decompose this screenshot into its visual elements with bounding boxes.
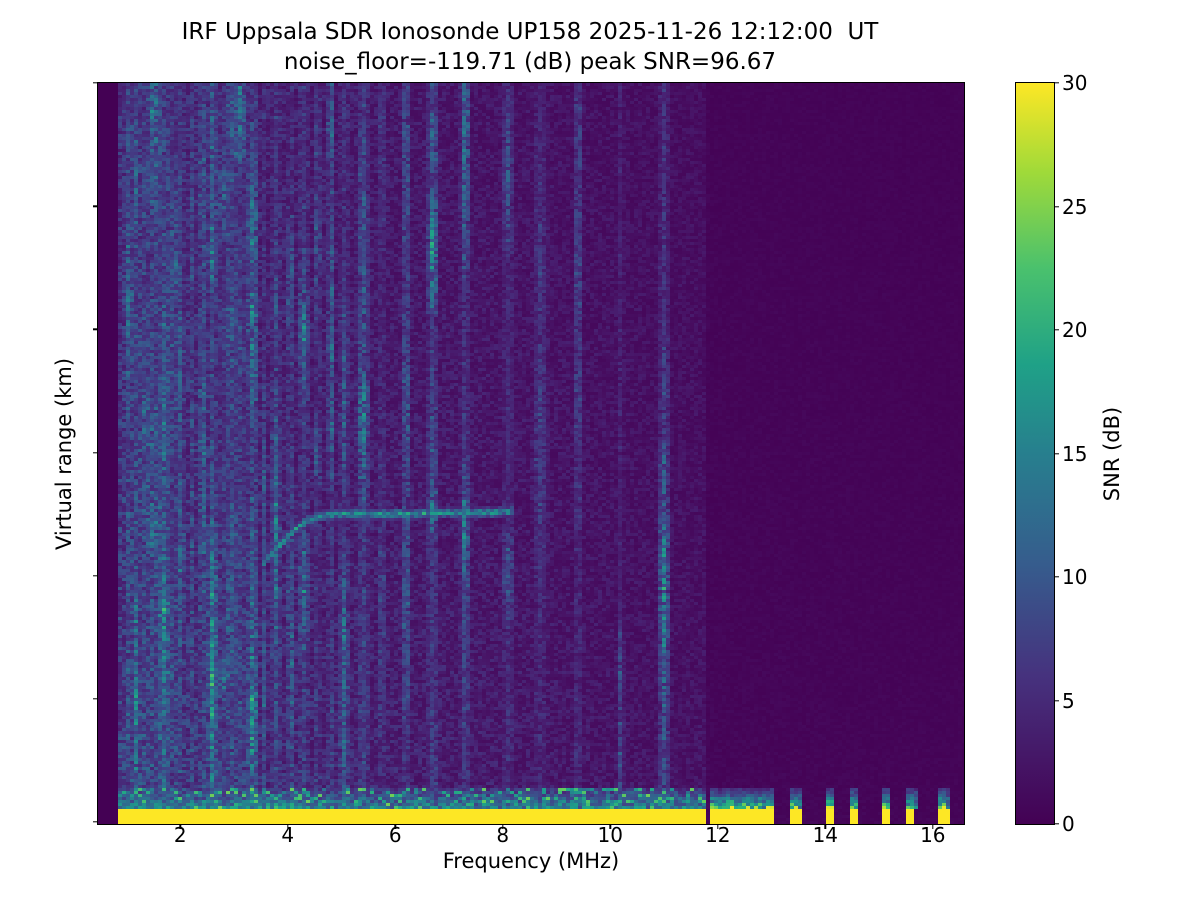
colorbar-tick-label-30: 30 <box>1062 71 1087 95</box>
colorbar-tick-mark <box>1054 82 1059 83</box>
x-tick-label-4: 4 <box>281 823 294 847</box>
x-tick-label-14: 14 <box>813 823 838 847</box>
title-line-2: noise_floor=-119.71 (dB) peak SNR=96.67 <box>0 48 1060 78</box>
y-tick-mark <box>93 329 98 330</box>
ionogram-heatmap <box>98 83 964 824</box>
x-tick-label-6: 6 <box>389 823 402 847</box>
x-tick-label-16: 16 <box>920 823 945 847</box>
x-tick-label-2: 2 <box>174 823 187 847</box>
colorbar-tick-mark <box>1054 700 1059 701</box>
figure-title: IRF Uppsala SDR Ionosonde UP158 2025-11-… <box>0 18 1060 78</box>
x-axis-label: Frequency (MHz) <box>443 849 619 873</box>
title-line-1: IRF Uppsala SDR Ionosonde UP158 2025-11-… <box>0 18 1060 48</box>
colorbar-tick-label-5: 5 <box>1062 689 1075 713</box>
y-axis-label: Virtual range (km) <box>52 357 76 549</box>
colorbar-tick-label-10: 10 <box>1062 565 1087 589</box>
y-tick-mark <box>93 452 98 453</box>
colorbar-tick-label-0: 0 <box>1062 812 1075 836</box>
ionogram-axes: 0100200300400500600 Virtual range (km) 2… <box>97 82 965 825</box>
colorbar-tick-label-20: 20 <box>1062 318 1087 342</box>
colorbar-tick-mark <box>1054 329 1059 330</box>
colorbar-tick-label-15: 15 <box>1062 442 1087 466</box>
ionogram-figure: IRF Uppsala SDR Ionosonde UP158 2025-11-… <box>0 0 1200 900</box>
x-tick-label-12: 12 <box>705 823 730 847</box>
colorbar-tick-mark <box>1054 453 1059 454</box>
colorbar-tick-mark <box>1054 206 1059 207</box>
x-tick-label-10: 10 <box>598 823 623 847</box>
y-tick-mark <box>93 698 98 699</box>
colorbar-tick-mark <box>1054 576 1059 577</box>
x-tick-label-8: 8 <box>496 823 509 847</box>
y-tick-mark <box>93 82 98 83</box>
colorbar-tick-label-25: 25 <box>1062 195 1087 219</box>
y-tick-mark <box>93 821 98 822</box>
y-tick-mark <box>93 205 98 206</box>
snr-colorbar: 051015202530 SNR (dB) <box>1015 82 1055 825</box>
colorbar-label: SNR (dB) <box>1100 406 1124 500</box>
colorbar-tick-mark <box>1054 823 1059 824</box>
y-tick-mark <box>93 575 98 576</box>
